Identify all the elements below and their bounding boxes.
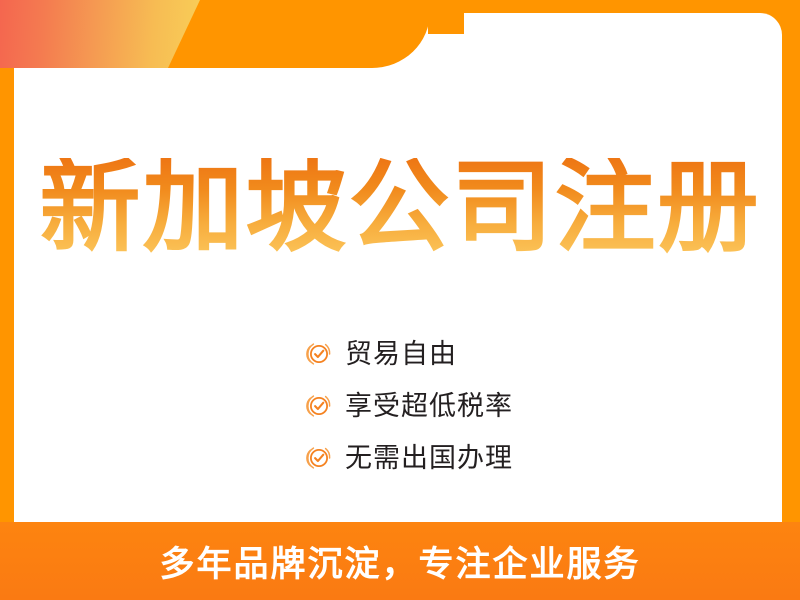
poster-root: 新加坡公司注册 贸易自由: [0, 0, 800, 600]
feature-list: 贸易自由 享受超低税率: [305, 328, 513, 484]
feature-item: 无需出国办理: [305, 432, 513, 484]
page-title-text: 新加坡公司注册: [39, 158, 760, 259]
check-circle-icon: [305, 444, 333, 472]
bottom-banner: 多年品牌沉淀，专注企业服务: [0, 522, 800, 600]
feature-item: 贸易自由: [305, 328, 513, 380]
check-circle-icon: [305, 392, 333, 420]
bottom-banner-text: 多年品牌沉淀，专注企业服务: [159, 536, 640, 587]
feature-label: 贸易自由: [345, 341, 457, 368]
feature-label: 无需出国办理: [345, 445, 513, 472]
top-ribbon-gradient: [0, 0, 200, 68]
page-title: 新加坡公司注册: [0, 158, 800, 259]
feature-label: 享受超低税率: [345, 393, 513, 420]
feature-item: 享受超低税率: [305, 380, 513, 432]
check-circle-icon: [305, 340, 333, 368]
